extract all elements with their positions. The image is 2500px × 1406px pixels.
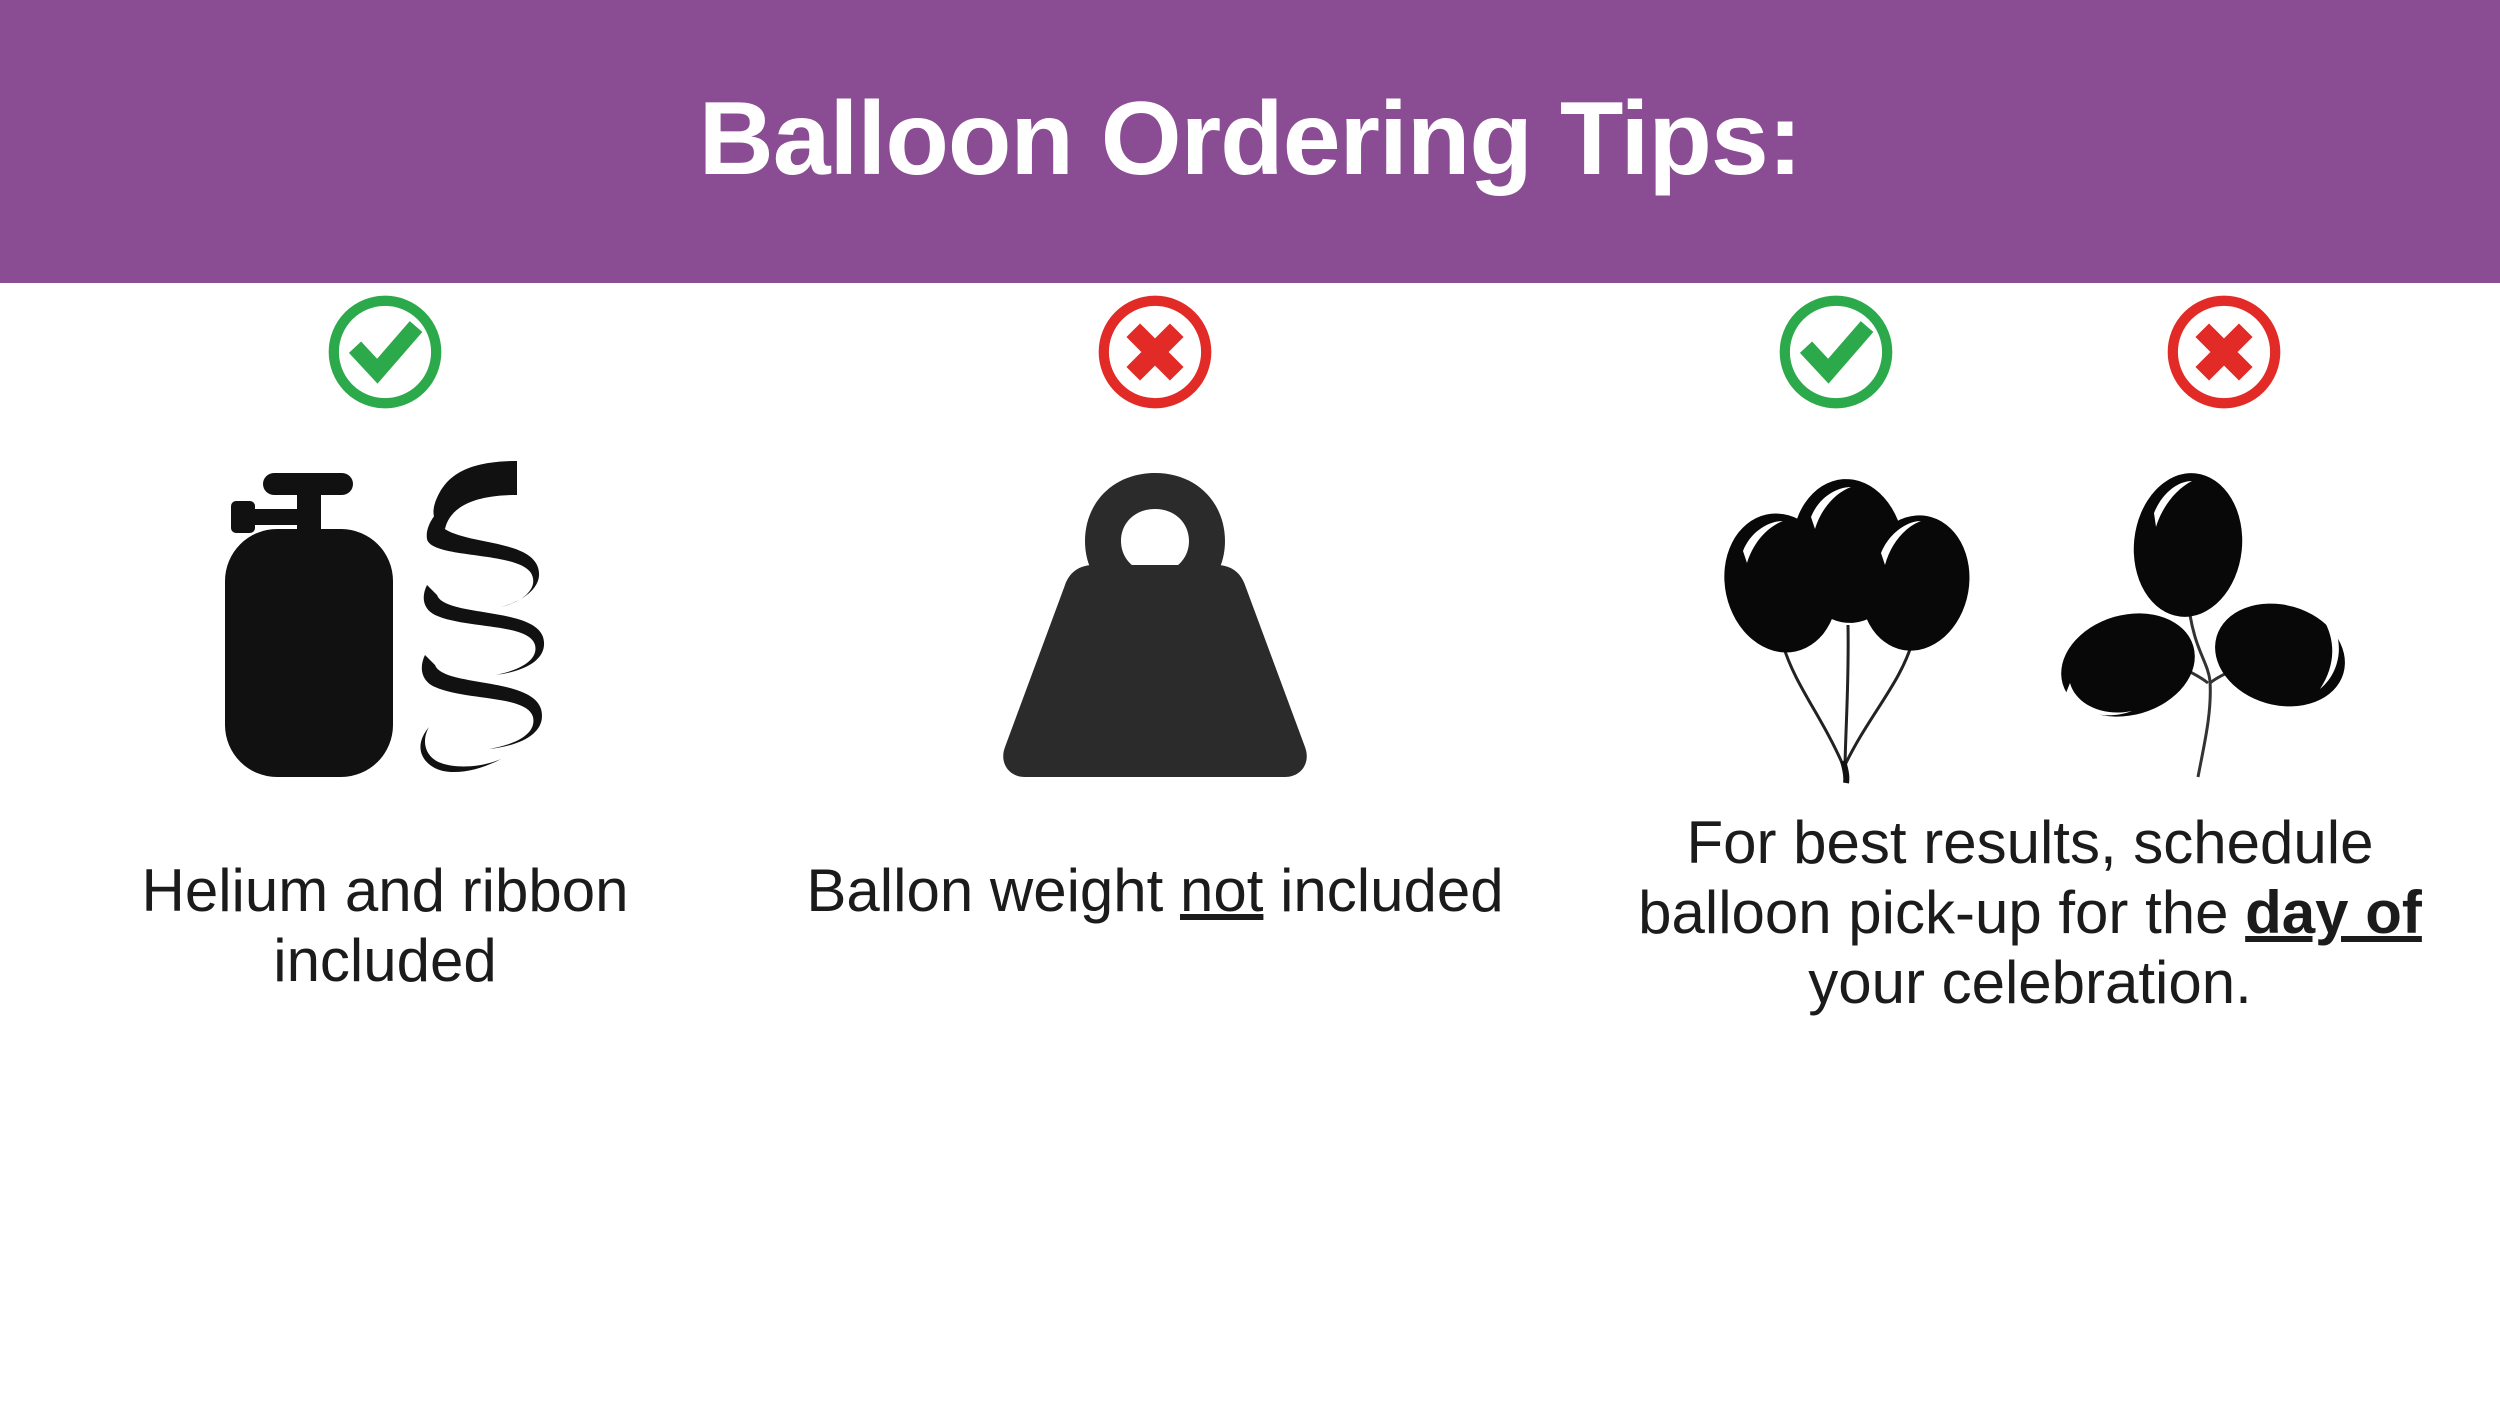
header-band: Balloon Ordering Tips:: [0, 0, 2500, 283]
cross-circle-icon: [1091, 288, 1219, 421]
caption-part: your celebration.: [1808, 949, 2252, 1016]
page-title: Balloon Ordering Tips:: [699, 87, 1802, 197]
tip-column-pickup-timing: For best results, schedule balloon pick-…: [1560, 283, 2500, 1019]
caption-helium-ribbon: Helium and ribbon included: [35, 856, 735, 996]
status-row: [321, 288, 449, 438]
status-row: [1772, 288, 2288, 438]
art-row: [985, 460, 1325, 790]
art-row: [1713, 460, 2348, 790]
caption-text: Helium and ribbon included: [142, 857, 629, 994]
weight-icon: [985, 465, 1325, 790]
curled-ribbon-icon: [405, 455, 555, 790]
caption-pickup-timing: For best results, schedule balloon pick-…: [1630, 808, 2430, 1019]
helium-tank-icon: [215, 465, 405, 790]
check-circle-icon: [321, 288, 449, 421]
cross-circle-icon: [2160, 288, 2288, 421]
caption-part: included: [1263, 857, 1503, 924]
tip-column-balloon-weight: Ballon weight not included: [770, 283, 1540, 926]
art-row: [215, 460, 555, 790]
check-circle-icon: [1772, 288, 1900, 421]
floating-balloons-icon: [1713, 465, 1983, 790]
deflated-balloons-icon: [2058, 465, 2348, 790]
caption-emphasis-not: not: [1180, 857, 1263, 924]
status-row: [1091, 288, 1219, 438]
caption-emphasis-day-of: day of: [2245, 879, 2422, 946]
caption-part: Ballon weight: [806, 857, 1180, 924]
tips-content: Helium and ribbon included: [0, 283, 2500, 1406]
caption-balloon-weight: Ballon weight not included: [805, 856, 1505, 926]
tip-column-helium-ribbon: Helium and ribbon included: [0, 283, 770, 996]
